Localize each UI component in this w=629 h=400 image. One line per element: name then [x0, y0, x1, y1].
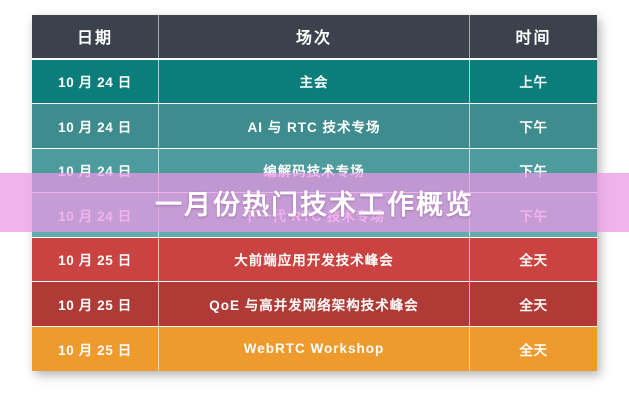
cell-session: QoE 与高并发网络架构技术峰会 — [159, 282, 470, 326]
cell-session: 大前端应用开发技术峰会 — [159, 238, 470, 282]
table-row: 10 月 25 日 大前端应用开发技术峰会 全天 — [32, 238, 597, 283]
cell-time: 上午 — [470, 60, 597, 104]
column-header-time: 时间 — [470, 15, 597, 58]
cell-date: 10 月 24 日 — [32, 149, 159, 193]
cell-date: 10 月 24 日 — [32, 193, 159, 237]
table-row: 10 月 24 日 主会 上午 — [32, 60, 597, 105]
conference-schedule-table: 日期 场次 时间 10 月 24 日 主会 上午 10 月 24 日 AI 与 … — [32, 15, 597, 371]
page-canvas: 日期 场次 时间 10 月 24 日 主会 上午 10 月 24 日 AI 与 … — [0, 0, 629, 400]
table-row: 10 月 25 日 QoE 与高并发网络架构技术峰会 全天 — [32, 282, 597, 327]
table-header-row: 日期 场次 时间 — [32, 15, 597, 60]
cell-session: 编解码技术专场 — [159, 149, 470, 193]
column-header-session: 场次 — [159, 15, 470, 58]
cell-date: 10 月 25 日 — [32, 238, 159, 282]
cell-time: 下午 — [470, 149, 597, 193]
cell-session: 主会 — [159, 60, 470, 104]
cell-time: 下午 — [470, 104, 597, 148]
table-row: 10 月 24 日 编解码技术专场 下午 — [32, 149, 597, 194]
cell-date: 10 月 25 日 — [32, 327, 159, 372]
table-row: 10 月 24 日 下一代 RTC 技术专场 下午 — [32, 193, 597, 238]
cell-time: 下午 — [470, 193, 597, 237]
table-row: 10 月 24 日 AI 与 RTC 技术专场 下午 — [32, 104, 597, 149]
cell-time: 全天 — [470, 238, 597, 282]
cell-time: 全天 — [470, 282, 597, 326]
cell-date: 10 月 25 日 — [32, 282, 159, 326]
cell-time: 全天 — [470, 327, 597, 372]
cell-session: WebRTC Workshop — [159, 327, 470, 372]
table-row: 10 月 25 日 WebRTC Workshop 全天 — [32, 327, 597, 372]
cell-session: AI 与 RTC 技术专场 — [159, 104, 470, 148]
column-header-date: 日期 — [32, 15, 159, 58]
cell-session: 下一代 RTC 技术专场 — [159, 193, 470, 237]
cell-date: 10 月 24 日 — [32, 60, 159, 104]
cell-date: 10 月 24 日 — [32, 104, 159, 148]
